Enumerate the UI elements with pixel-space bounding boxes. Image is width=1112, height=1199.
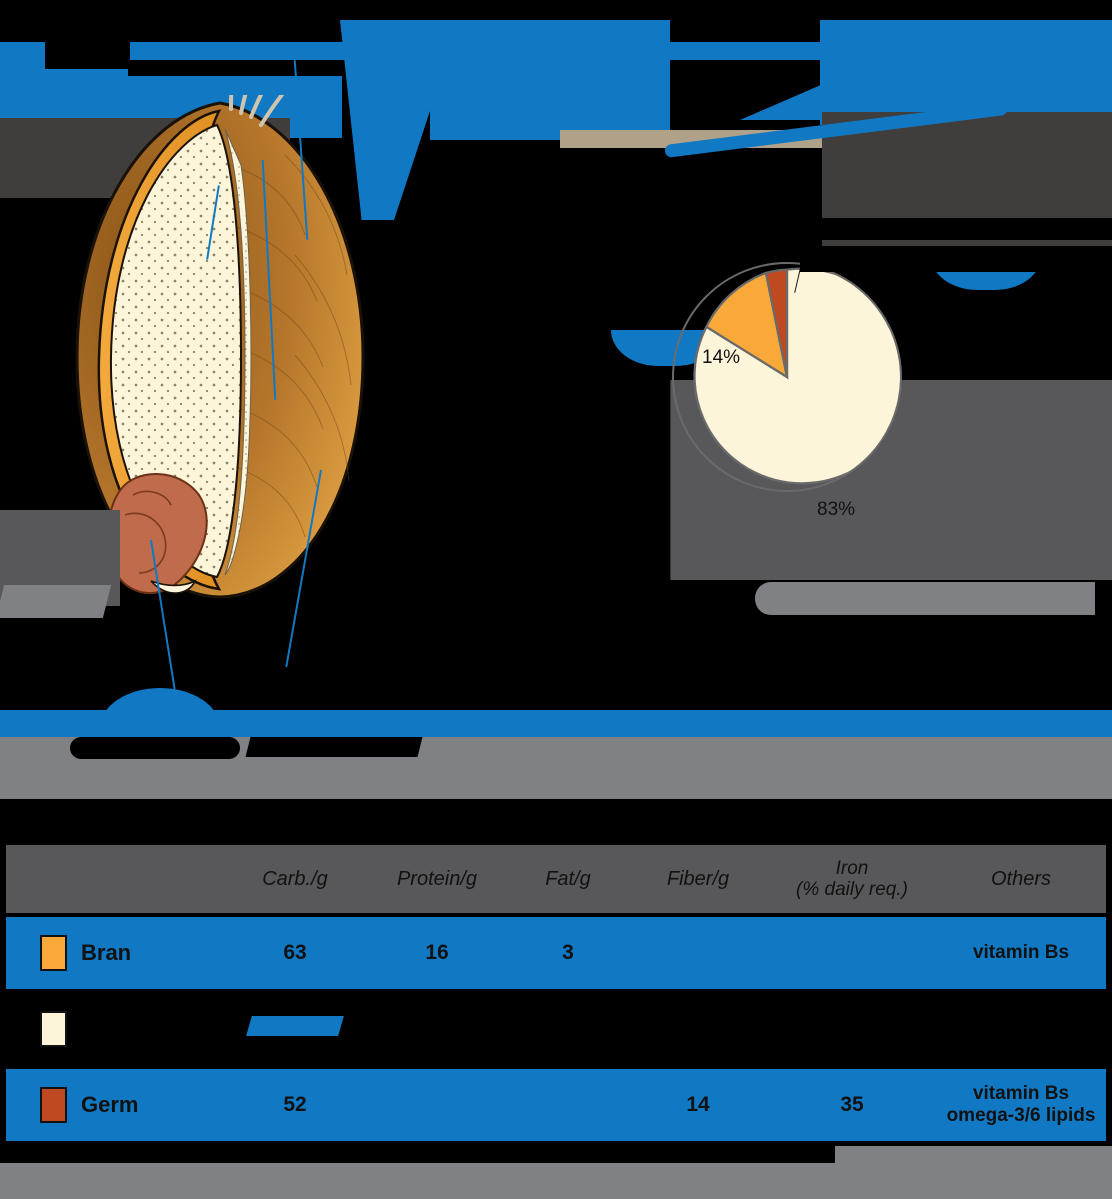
table-cell-endosperm-others [936, 993, 1106, 1065]
redaction-footer-band [0, 1163, 1112, 1199]
redaction-knockout-bottom-2 [246, 737, 423, 757]
composition-pie-chart: 14% 83% 3% [672, 262, 902, 524]
table-cell-endosperm-protein [366, 993, 508, 1065]
pie-label-endosperm: 83% [817, 499, 855, 521]
table-header-others: Others [936, 845, 1106, 913]
table-label-bran: Bran [81, 940, 131, 966]
swatch-germ-icon [40, 1087, 67, 1123]
table-cell-bran-name: Bran [6, 917, 224, 989]
redaction-block-title-left [45, 37, 130, 69]
table-header-fiber: Fiber/g [628, 845, 768, 913]
table-header-fat: Fat/g [508, 845, 628, 913]
table-cell-endosperm-iron [768, 993, 936, 1065]
redaction-peak-bottom-blue [100, 688, 220, 728]
table-cell-germ-fat [508, 1069, 628, 1141]
table-cell-endosperm-carb [224, 993, 366, 1065]
table-cell-germ-others: vitamin Bs omega-3/6 lipids [936, 1069, 1106, 1141]
table-cell-germ-iron: 35 [768, 1069, 936, 1141]
redaction-caption-right [755, 582, 1095, 615]
table-header-iron-line2: (% daily req.) [768, 879, 936, 900]
redaction-block-pie-germ-label-2 [800, 246, 1112, 272]
table-cell-germ-protein [366, 1069, 508, 1141]
swatch-endosperm-icon [40, 1011, 67, 1047]
table-label-germ: Germ [81, 1092, 138, 1118]
table-header-carb: Carb./g [224, 845, 366, 913]
nutrition-table: Carb./g Protein/g Fat/g Fiber/g Iron (% … [6, 845, 1106, 1141]
table-cell-germ-carb: 52 [224, 1069, 366, 1141]
table-cell-bran-fiber [628, 917, 768, 989]
infographic-canvas: 14% 83% 3% Carb./g Protein/g Fat/g Fiber… [0, 0, 1112, 1199]
table-cell-endosperm-name [6, 993, 224, 1065]
redaction-knockout-bottom-1 [70, 737, 240, 759]
pie-svg [672, 262, 902, 492]
table-header-protein: Protein/g [366, 845, 508, 913]
redaction-wedge-mid [430, 20, 670, 140]
redaction-endosperm-carb [246, 1016, 344, 1036]
table-header-row: Carb./g Protein/g Fat/g Fiber/g Iron (% … [6, 845, 1106, 913]
table-cell-endosperm-fat [508, 993, 628, 1065]
table-cell-germ-name: Germ [6, 1069, 224, 1141]
table-cell-bran-fat: 3 [508, 917, 628, 989]
table-cell-bran-iron [768, 917, 936, 989]
table-cell-bran-protein: 16 [366, 917, 508, 989]
table-cell-germ-others-line1: vitamin Bs [936, 1083, 1106, 1105]
table-cell-endosperm-fiber [628, 993, 768, 1065]
table-cell-bran-others: vitamin Bs [936, 917, 1106, 989]
table-cell-germ-fiber: 14 [628, 1069, 768, 1141]
table-header-iron-line1: Iron [768, 858, 936, 879]
table-cell-germ-others-line2: omega-3/6 lipids [936, 1105, 1106, 1127]
swatch-bran-icon [40, 935, 67, 971]
pie-label-bran: 14% [702, 347, 740, 369]
table-header-iron: Iron (% daily req.) [768, 845, 936, 913]
table-header-blank [6, 845, 224, 913]
table-row-bran: Bran 63 16 3 vitamin Bs [6, 917, 1106, 989]
redaction-caption-left [0, 585, 111, 618]
table-row-germ: Germ 52 14 35 vitamin Bs omega-3/6 lipid… [6, 1069, 1106, 1141]
table-cell-bran-carb: 63 [224, 917, 366, 989]
redaction-block-pie-germ-label [806, 218, 1112, 240]
table-row-endosperm [6, 993, 1106, 1065]
